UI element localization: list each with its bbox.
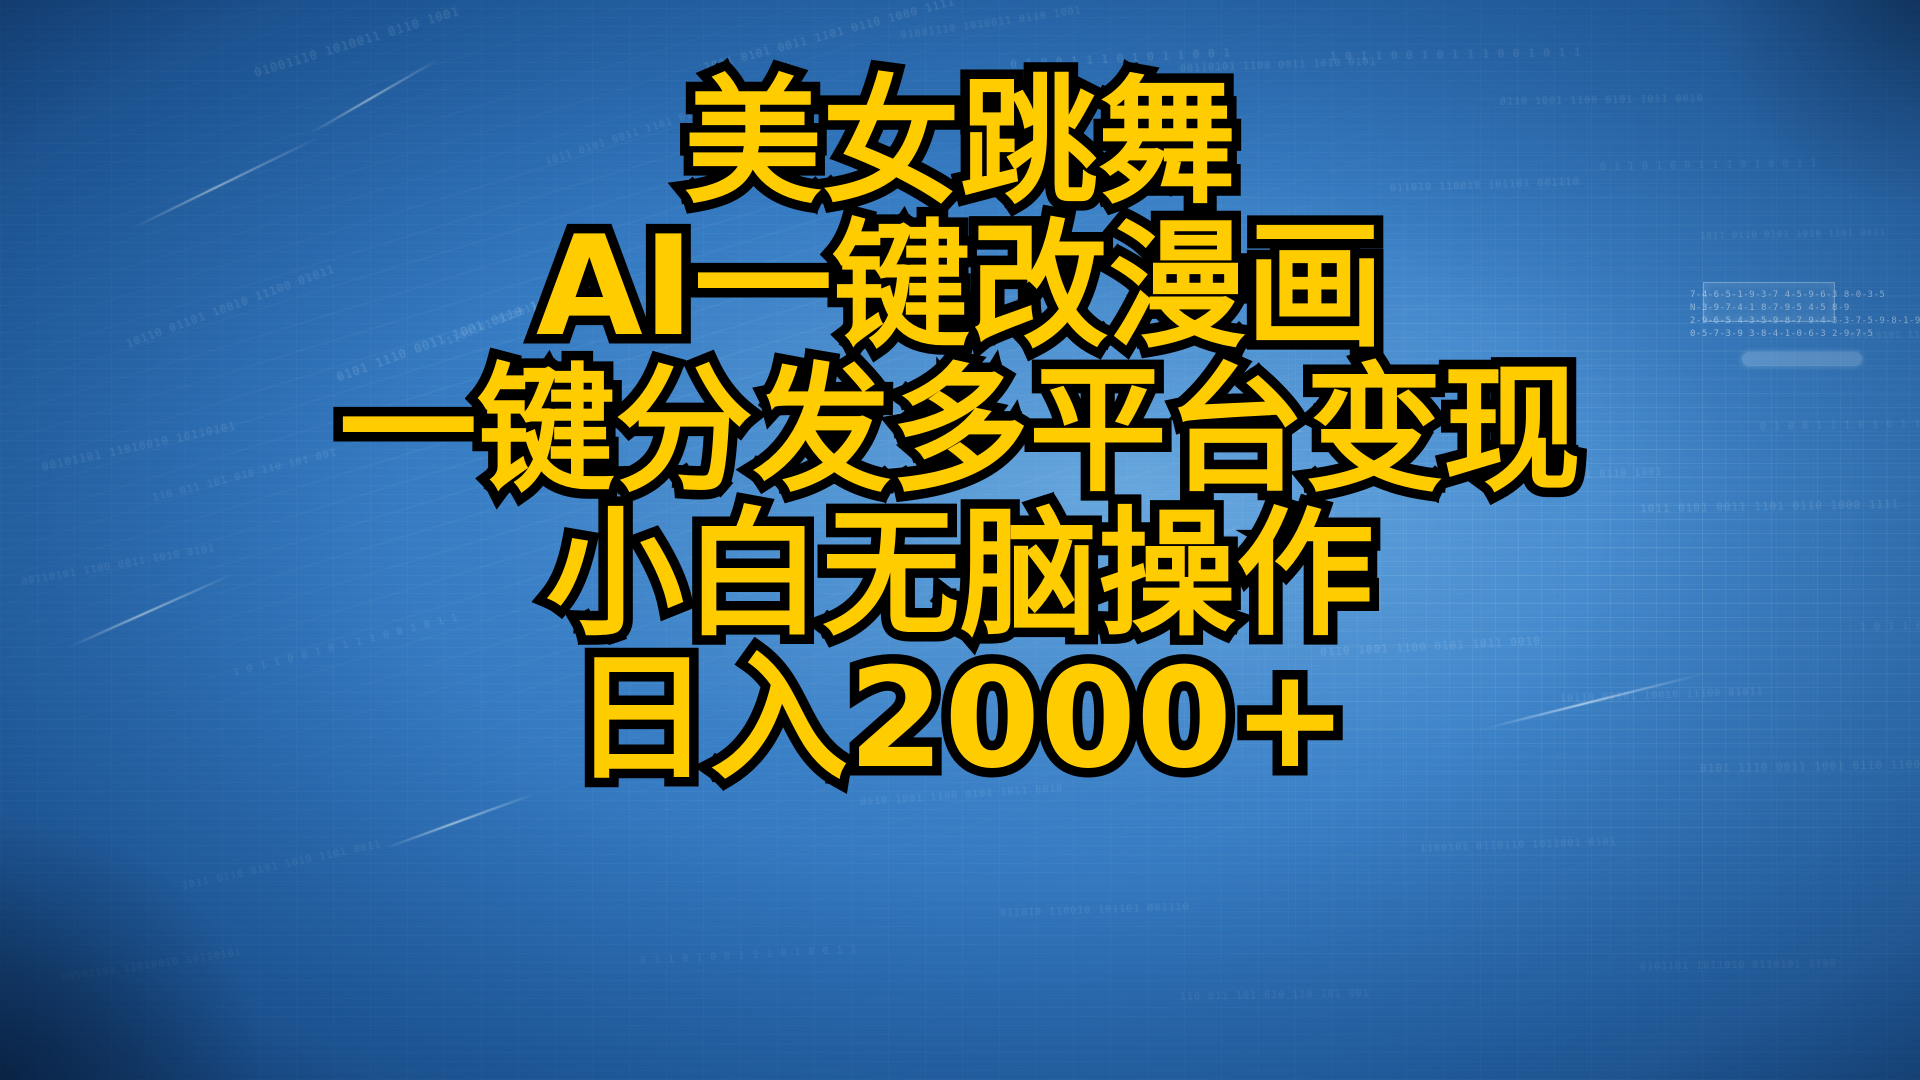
headline-line-2: AI一键改漫画 bbox=[536, 218, 1384, 356]
headline-line-1: 美女跳舞 bbox=[684, 74, 1236, 212]
headline-line-5: 日入2000+ bbox=[572, 650, 1348, 788]
background-code-string: 01001110 1010011 0110 1001 bbox=[253, 4, 462, 80]
background-code-string: 01001110 1010011 0110 1001 bbox=[900, 5, 1082, 41]
background-code-string: 011010 110010 101101 001110 bbox=[1000, 902, 1190, 920]
headline-line-3: 一键分发多平台变现 bbox=[339, 362, 1581, 500]
background-code-string: 1011 0110 0101 1010 1101 0011 bbox=[181, 839, 382, 892]
headline-line-4: 小白无脑操作 bbox=[546, 506, 1374, 644]
headline-block: 美女跳舞 AI一键改漫画 一键分发多平台变现 小白无脑操作 日入2000+ bbox=[0, 74, 1920, 788]
background-code-string: 0 1 1 0 1 0 0 1 1 1 0 1 0 0 1 1 bbox=[640, 944, 858, 966]
light-streak bbox=[384, 793, 535, 850]
background-code-string: 1100101 0110110 1011001 0101 bbox=[1420, 837, 1617, 855]
background-code-string: 1 0 1 1 0 0 1 0 1 1 1 0 0 1 0 1 1 bbox=[1330, 46, 1582, 63]
background-code-string: 110 011 101 010 110 101 001 bbox=[1180, 988, 1370, 1002]
background-code-string: 00101101 11010010 10110101 bbox=[60, 947, 242, 983]
background-code-string: 0101101 1011010 0110101 1100 bbox=[1640, 958, 1837, 972]
poster-canvas: 01001110 1010011 0110 10011011 0101 0011… bbox=[0, 0, 1920, 1080]
